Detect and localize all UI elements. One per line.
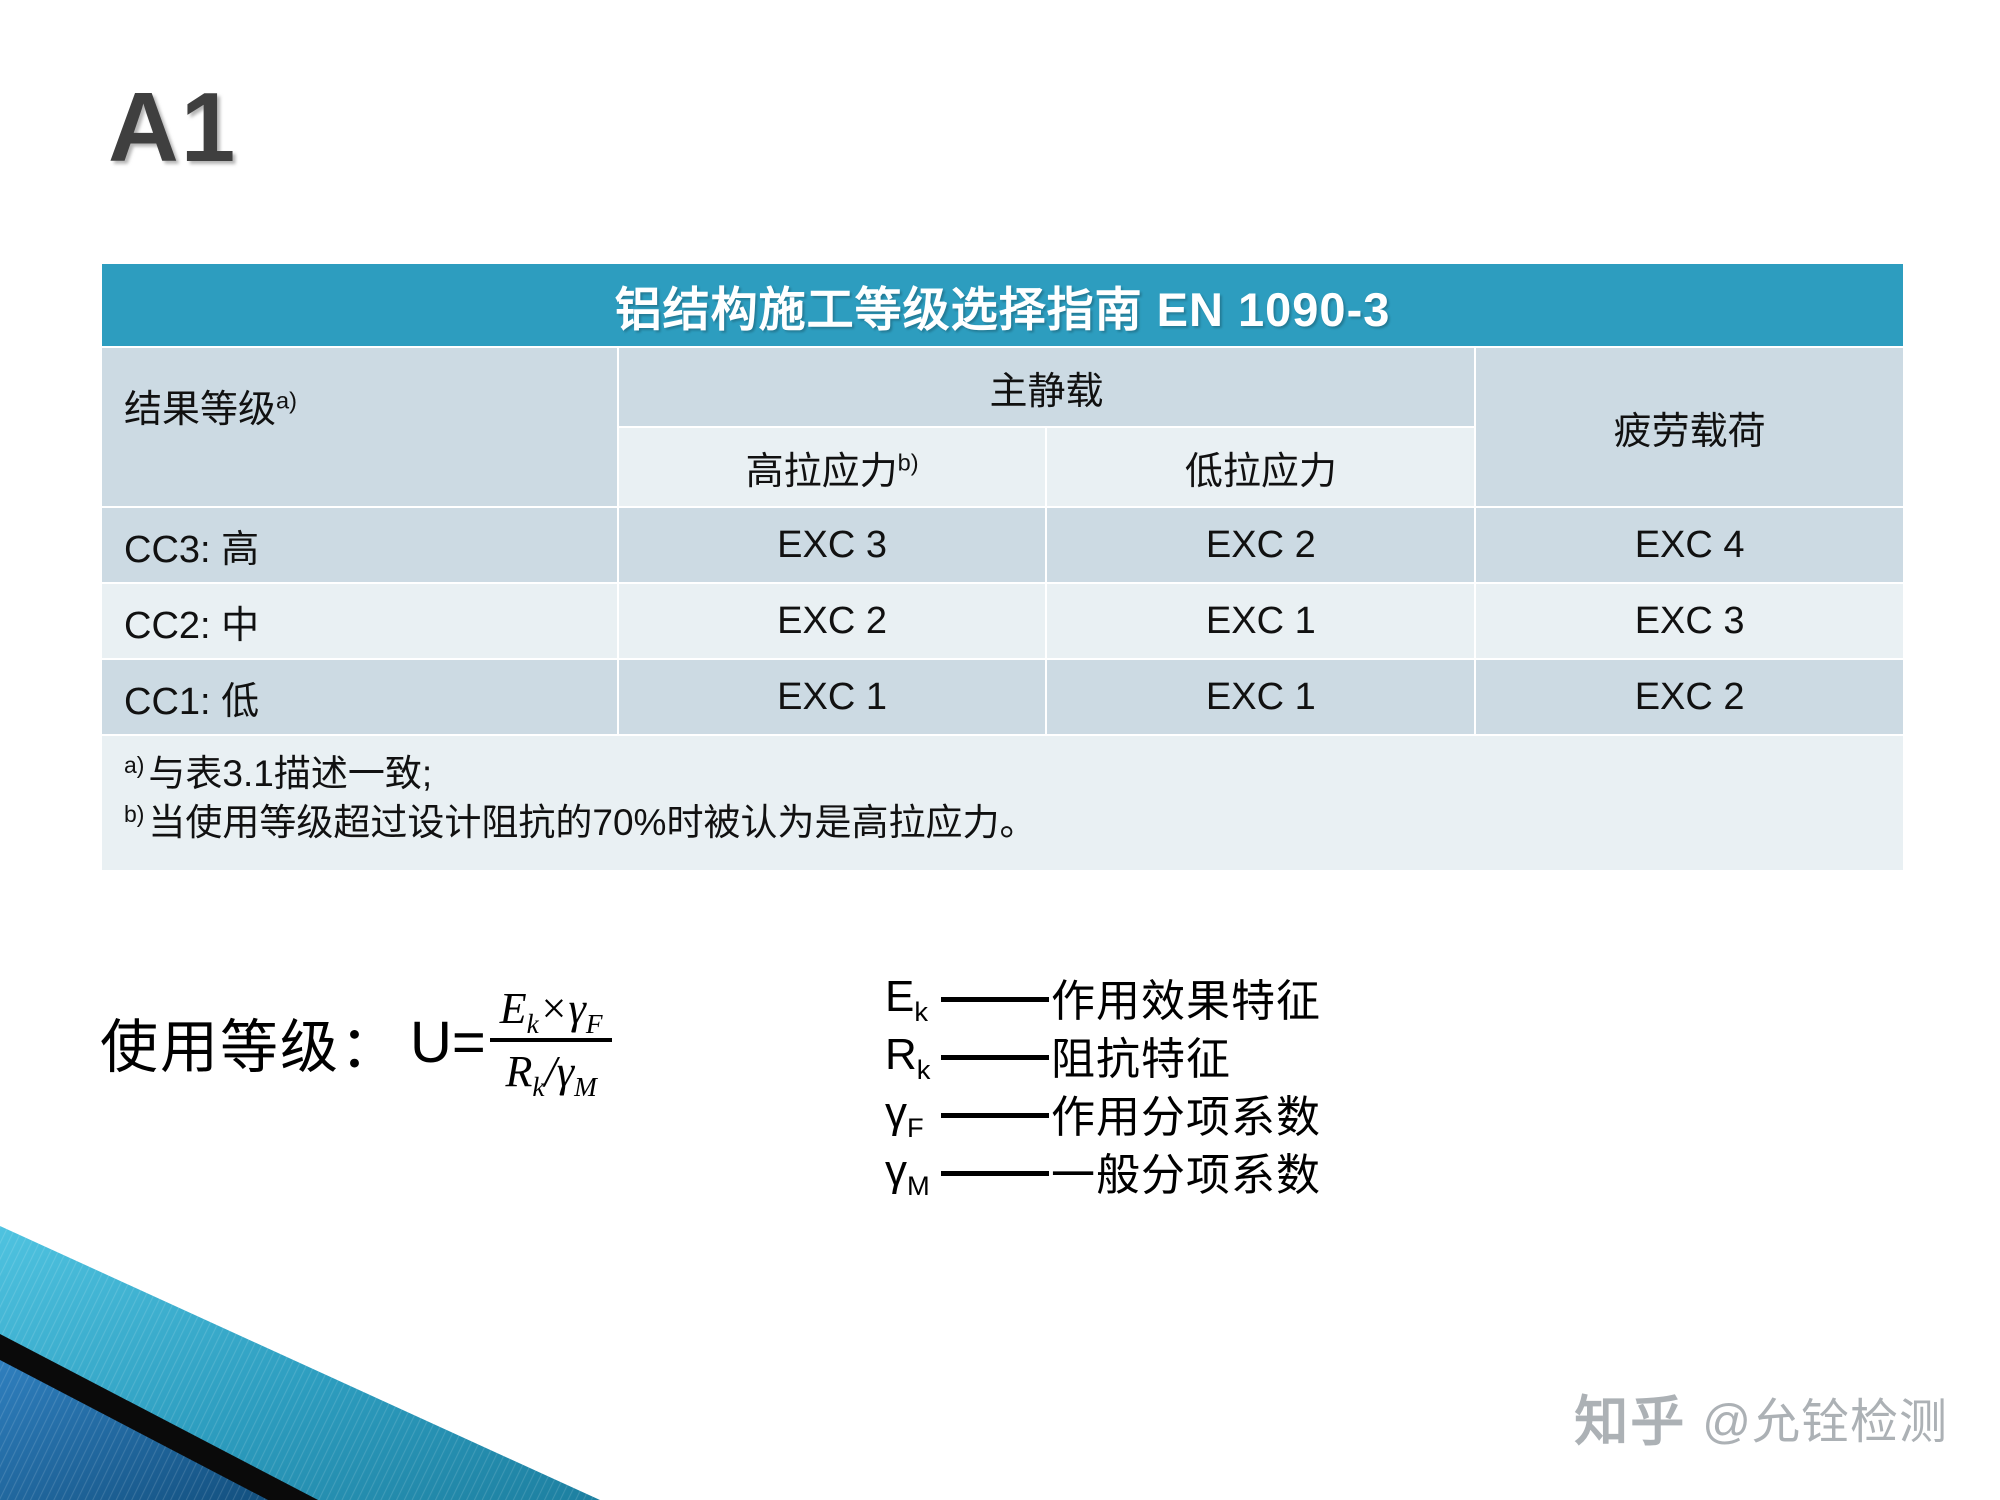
header-fatigue-load: 疲劳载荷 xyxy=(1475,347,1904,507)
legend-dash-icon xyxy=(941,1171,1049,1176)
page-title: A1 xyxy=(108,78,237,176)
legend-symbol: Rk xyxy=(885,1030,941,1080)
legend-item: γF 作用分项系数 xyxy=(885,1084,1321,1142)
legend-description: 作用分项系数 xyxy=(1051,1081,1321,1145)
formula-fraction: Ek×γF Rk/γM xyxy=(490,983,613,1097)
row-low-tensile: EXC 1 xyxy=(1046,583,1475,659)
table-row: CC1: 低 EXC 1 EXC 1 EXC 2 xyxy=(101,659,1904,735)
legend-item: Ek 作用效果特征 xyxy=(885,968,1321,1026)
row-grade: CC1: 低 xyxy=(101,659,618,735)
legend-symbol: Ek xyxy=(885,972,941,1022)
legend-dash-icon xyxy=(941,997,1049,1002)
watermark-handle: @允铨检测 xyxy=(1702,1382,1948,1452)
row-grade: CC2: 中 xyxy=(101,583,618,659)
deco-teal-texture xyxy=(0,1226,600,1500)
legend-dash-icon xyxy=(941,1055,1049,1060)
row-high-tensile: EXC 3 xyxy=(618,507,1047,583)
table-header-row-1: 结果等级a) 主静载 疲劳载荷 xyxy=(101,347,1904,427)
footnote-a: a)与表3.1描述一致; xyxy=(124,750,1903,799)
table-caption: 铝结构施工等级选择指南 EN 1090-3 xyxy=(101,263,1904,347)
header-low-tensile-stress: 低拉应力 xyxy=(1046,427,1475,507)
formula-lhs: U= xyxy=(410,1009,486,1076)
row-fatigue: EXC 3 xyxy=(1475,583,1904,659)
header-main-static-load: 主静载 xyxy=(618,347,1476,427)
header-result-class: 结果等级a) xyxy=(101,347,618,507)
deco-blue-triangle xyxy=(0,1360,268,1500)
table-row: CC2: 中 EXC 2 EXC 1 EXC 3 xyxy=(101,583,1904,659)
footnote-b: b)当使用等级超过设计阻抗的70%时被认为是高拉应力。 xyxy=(124,799,1903,848)
usage-level-formula: 使用等级： U= Ek×γF Rk/γM xyxy=(100,985,612,1099)
legend-item: Rk 阻抗特征 xyxy=(885,1026,1321,1084)
formula-label: 使用等级： xyxy=(100,1000,400,1084)
row-high-tensile: EXC 1 xyxy=(618,659,1047,735)
row-low-tensile: EXC 2 xyxy=(1046,507,1475,583)
header-high-tensile-stress-label: 高拉应力 xyxy=(746,451,898,493)
deco-black-triangle xyxy=(0,1334,318,1500)
table-row: CC3: 高 EXC 3 EXC 2 EXC 4 xyxy=(101,507,1904,583)
formula-denominator: Rk/γM xyxy=(495,1046,606,1097)
row-fatigue: EXC 2 xyxy=(1475,659,1904,735)
symbol-legend: Ek 作用效果特征 Rk 阻抗特征 γF 作用分项系数 γM 一般分项系数 xyxy=(885,968,1321,1200)
fraction-bar xyxy=(490,1038,613,1042)
header-result-class-footnote-mark: a) xyxy=(276,387,297,413)
row-fatigue: EXC 4 xyxy=(1475,507,1904,583)
footnote-a-mark: a) xyxy=(124,752,144,778)
row-grade: CC3: 高 xyxy=(101,507,618,583)
deco-blue-texture xyxy=(0,1360,268,1500)
header-high-tensile-stress: 高拉应力b) xyxy=(618,427,1047,507)
decorative-corner-graphic xyxy=(0,1210,760,1500)
header-result-class-label: 结果等级 xyxy=(124,389,276,431)
footnote-a-text: 与表3.1描述一致; xyxy=(148,753,432,794)
row-high-tensile: EXC 2 xyxy=(618,583,1047,659)
footnote-b-mark: b) xyxy=(124,801,144,827)
footnote-b-text: 当使用等级超过设计阻抗的70%时被认为是高拉应力。 xyxy=(148,802,1036,843)
table-caption-row: 铝结构施工等级选择指南 EN 1090-3 xyxy=(101,263,1904,347)
legend-symbol: γM xyxy=(885,1146,941,1196)
deco-teal-triangle xyxy=(0,1226,600,1500)
zhihu-logo: 知乎 xyxy=(1574,1377,1686,1456)
legend-description: 作用效果特征 xyxy=(1051,965,1321,1029)
legend-symbol: γF xyxy=(885,1088,941,1138)
legend-dash-icon xyxy=(941,1113,1049,1118)
legend-description: 阻抗特征 xyxy=(1051,1023,1231,1087)
execution-class-table: 铝结构施工等级选择指南 EN 1090-3 结果等级a) 主静载 疲劳载荷 高拉… xyxy=(100,262,1905,872)
watermark: 知乎 @允铨检测 xyxy=(1574,1377,1948,1456)
header-high-tensile-footnote-mark: b) xyxy=(898,449,919,475)
formula-numerator: Ek×γF xyxy=(490,983,613,1034)
table-footnotes-row: a)与表3.1描述一致; b)当使用等级超过设计阻抗的70%时被认为是高拉应力。 xyxy=(101,735,1904,871)
legend-description: 一般分项系数 xyxy=(1051,1139,1321,1203)
legend-item: γM 一般分项系数 xyxy=(885,1142,1321,1200)
row-low-tensile: EXC 1 xyxy=(1046,659,1475,735)
table-footnotes: a)与表3.1描述一致; b)当使用等级超过设计阻抗的70%时被认为是高拉应力。 xyxy=(101,735,1904,871)
guide-table-container: 铝结构施工等级选择指南 EN 1090-3 结果等级a) 主静载 疲劳载荷 高拉… xyxy=(100,262,1905,872)
